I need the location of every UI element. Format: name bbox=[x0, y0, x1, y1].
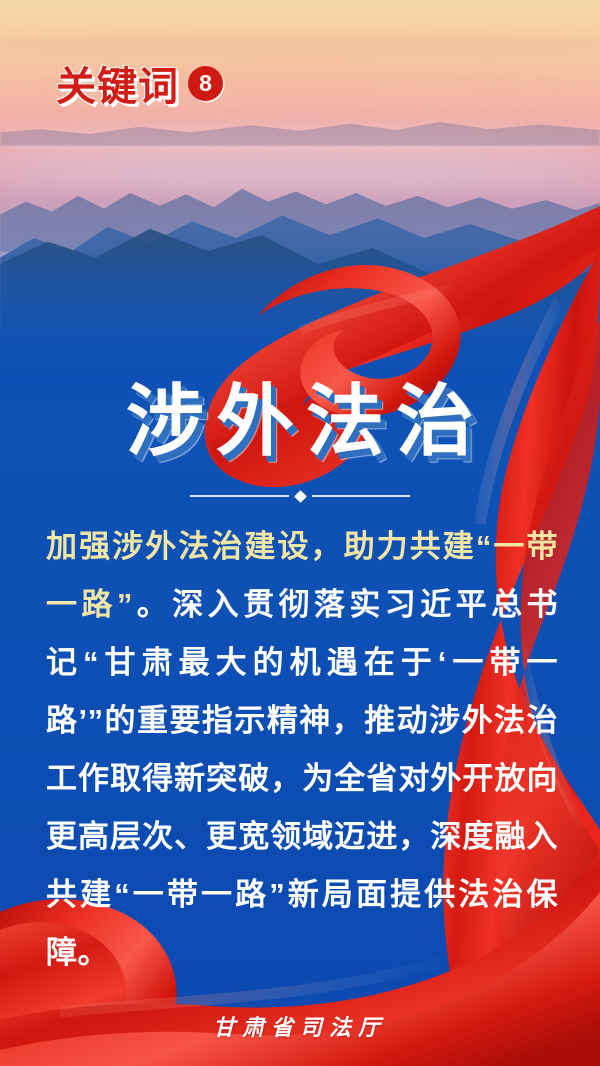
divider-diamond-icon bbox=[294, 490, 307, 503]
title-divider bbox=[190, 490, 410, 502]
divider-line-left bbox=[190, 495, 289, 497]
footer-organization: 甘肃省司法厅 bbox=[0, 1010, 600, 1042]
cloud-sea-haze bbox=[0, 170, 600, 194]
keyword-number-badge: 8 bbox=[188, 66, 223, 101]
divider-line-right bbox=[312, 495, 411, 497]
cloud-band bbox=[0, 40, 600, 48]
poster-canvas: 关键词 8 涉外法治 加强涉外法治建设，助力共建“一带一路”。深入贯彻落实习近平… bbox=[0, 0, 600, 1066]
keyword-label: 关键词 bbox=[56, 54, 179, 112]
body-rest: 。深入贯彻落实习近平总书记“甘肃最大的机遇在于‘一带一路’”的重要指示精神，推动… bbox=[46, 587, 558, 970]
body-paragraph: 加强涉外法治建设，助力共建“一带一路”。深入贯彻落实习近平总书记“甘肃最大的机遇… bbox=[46, 518, 558, 982]
keyword-header: 关键词 8 bbox=[56, 54, 223, 112]
page-title: 涉外法治 bbox=[0, 382, 600, 460]
